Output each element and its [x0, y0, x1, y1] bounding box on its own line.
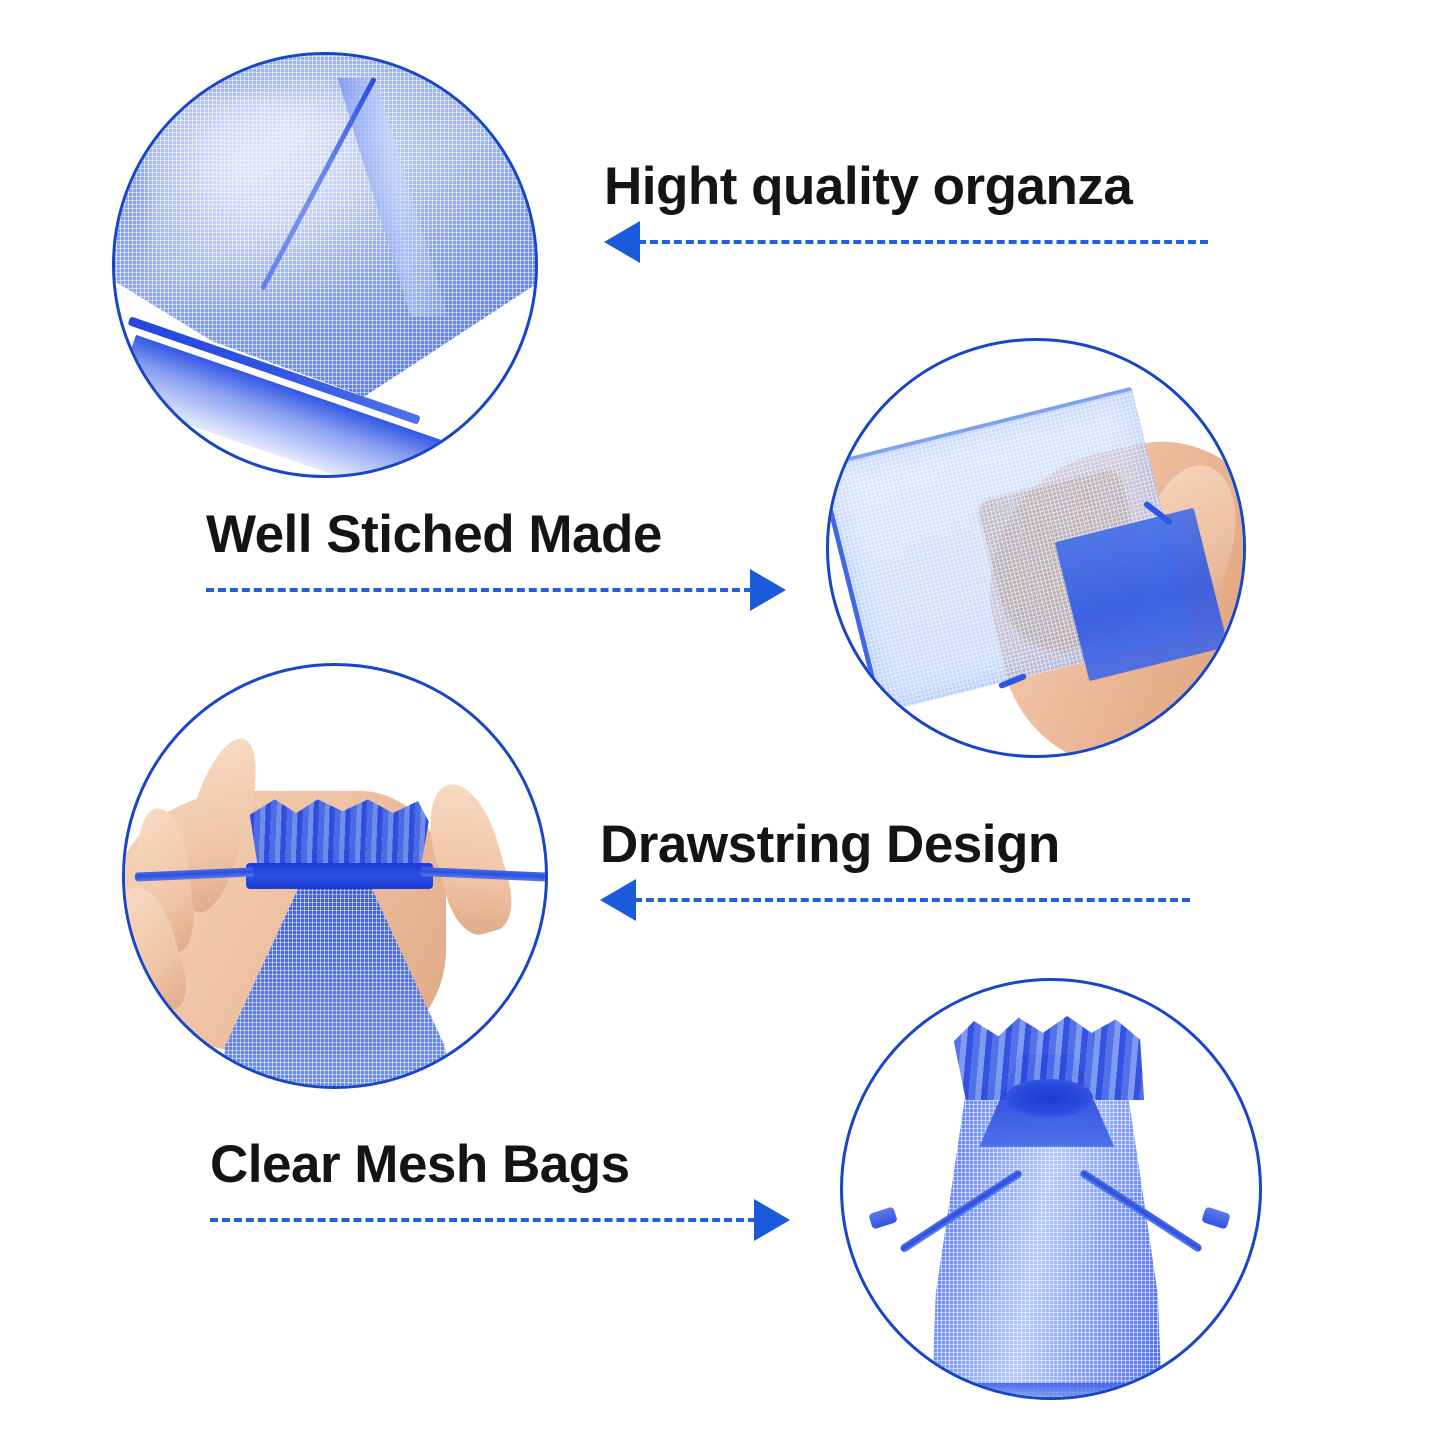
photo-circle-fabric-swatch [112, 52, 538, 478]
bag-base [929, 1383, 1165, 1400]
arrow-head-left-icon [600, 879, 636, 921]
product-feature-infographic: Hight quality organza Well Stiched Made … [0, 0, 1445, 1445]
callout-arrow-right [210, 1207, 790, 1233]
arrow-head-right-icon [750, 569, 786, 611]
feature-callout-clear-mesh-bags: Clear Mesh Bags [210, 1138, 790, 1233]
dashed-line [210, 1218, 756, 1222]
photo-circle-drawstring-hand [122, 663, 548, 1089]
callout-arrow-right [206, 577, 786, 603]
dashed-line [638, 240, 1208, 244]
feature-callout-well-stitched-made: Well Stiched Made [206, 508, 786, 603]
drawstring-icon [122, 663, 548, 1089]
fabric-sheen-highlight [146, 95, 393, 317]
feature-label: Drawstring Design [600, 818, 1190, 871]
fabric-swatch-icon [112, 52, 538, 478]
feature-label: Well Stiched Made [206, 508, 786, 561]
dashed-line [634, 898, 1190, 902]
feature-label: Hight quality organza [604, 160, 1208, 213]
arrow-head-left-icon [604, 221, 640, 263]
dashed-line [206, 588, 752, 592]
arrow-head-right-icon [754, 1199, 790, 1241]
ribbon-tip-right [1201, 1206, 1231, 1229]
organza-bag-icon [840, 978, 1262, 1400]
feature-callout-drawstring-design: Drawstring Design [600, 818, 1190, 913]
hand-in-bag-icon [826, 338, 1246, 758]
callout-arrow-left [604, 229, 1208, 255]
feature-label: Clear Mesh Bags [210, 1138, 790, 1191]
photo-circle-finished-bag [840, 978, 1262, 1400]
photo-circle-hand-in-bag [826, 338, 1246, 758]
feature-callout-high-quality-organza: Hight quality organza [604, 160, 1208, 255]
drawstring-knot [1005, 1079, 1094, 1117]
drawstring-cinch-band [246, 863, 433, 889]
ribbon-tip-left [868, 1206, 898, 1229]
callout-arrow-left [600, 887, 1190, 913]
